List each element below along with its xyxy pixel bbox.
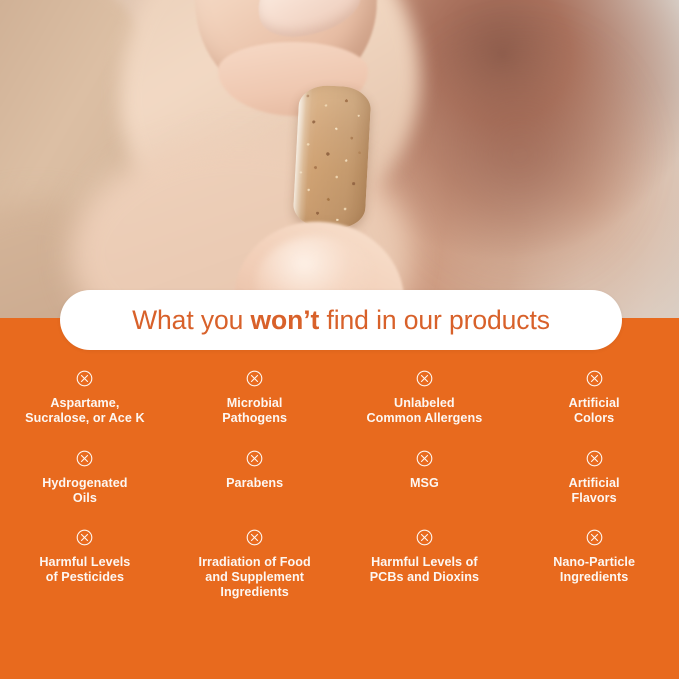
claim-item: Irradiation of Food and Supplement Ingre… bbox=[170, 529, 340, 613]
circle-x-icon bbox=[416, 529, 433, 546]
headline-emphasis: won’t bbox=[251, 305, 320, 335]
circle-x-icon bbox=[246, 370, 263, 387]
circle-x-icon bbox=[246, 450, 263, 467]
claim-item-label: Aspartame, Sucralose, or Ace K bbox=[25, 396, 144, 426]
claim-item-label: Parabens bbox=[226, 476, 283, 491]
claim-item-label: Harmful Levels of PCBs and Dioxins bbox=[370, 555, 479, 585]
claim-item: Nano-Particle Ingredients bbox=[509, 529, 679, 613]
circle-x-icon bbox=[246, 529, 263, 546]
headline-banner: What you won’t find in our products bbox=[60, 290, 622, 350]
claim-item: Artificial Colors bbox=[509, 370, 679, 450]
claim-item: Harmful Levels of Pesticides bbox=[0, 529, 170, 613]
page-title: What you won’t find in our products bbox=[132, 305, 550, 336]
claim-item-label: Unlabeled Common Allergens bbox=[366, 396, 482, 426]
claim-item: Aspartame, Sucralose, or Ace K bbox=[0, 370, 170, 450]
claim-item: Harmful Levels of PCBs and Dioxins bbox=[340, 529, 510, 613]
claims-grid: Aspartame, Sucralose, or Ace KMicrobial … bbox=[0, 370, 679, 613]
claim-item-label: MSG bbox=[410, 476, 439, 491]
claim-item-label: Harmful Levels of Pesticides bbox=[39, 555, 130, 585]
claim-item-label: Artificial Colors bbox=[569, 396, 620, 426]
claim-item: Hydrogenated Oils bbox=[0, 450, 170, 529]
claim-item: MSG bbox=[340, 450, 510, 529]
blurred-background-shape bbox=[400, 30, 640, 280]
circle-x-icon bbox=[416, 450, 433, 467]
circle-x-icon bbox=[586, 450, 603, 467]
headline-suffix: find in our products bbox=[319, 305, 550, 335]
tablet-icon bbox=[292, 84, 371, 230]
claim-item: Unlabeled Common Allergens bbox=[340, 370, 510, 450]
circle-x-icon bbox=[416, 370, 433, 387]
circle-x-icon bbox=[586, 529, 603, 546]
claims-panel: Aspartame, Sucralose, or Ace KMicrobial … bbox=[0, 318, 679, 679]
product-photo bbox=[0, 0, 679, 322]
circle-x-icon bbox=[76, 450, 93, 467]
claim-item-label: Nano-Particle Ingredients bbox=[553, 555, 635, 585]
claim-item: Microbial Pathogens bbox=[170, 370, 340, 450]
claim-item-label: Microbial Pathogens bbox=[222, 396, 287, 426]
claim-item-label: Hydrogenated Oils bbox=[42, 476, 127, 506]
claim-item: Artificial Flavors bbox=[509, 450, 679, 529]
circle-x-icon bbox=[586, 370, 603, 387]
headline-prefix: What you bbox=[132, 305, 250, 335]
circle-x-icon bbox=[76, 370, 93, 387]
claim-item-label: Irradiation of Food and Supplement Ingre… bbox=[199, 555, 311, 601]
claim-item: Parabens bbox=[170, 450, 340, 529]
product-infographic: Aspartame, Sucralose, or Ace KMicrobial … bbox=[0, 0, 679, 679]
claim-item-label: Artificial Flavors bbox=[569, 476, 620, 506]
circle-x-icon bbox=[76, 529, 93, 546]
